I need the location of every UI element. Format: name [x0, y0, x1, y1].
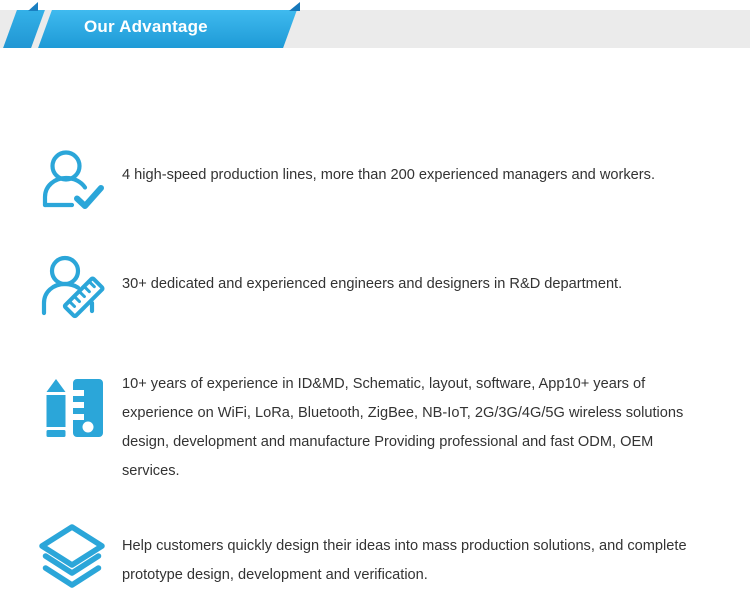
- pencil-ruler-icon: [33, 370, 111, 448]
- list-item-text: Help customers quickly design their idea…: [122, 532, 707, 590]
- list-item-text: 30+ dedicated and experienced engineers …: [122, 270, 702, 299]
- person-check-icon: [33, 144, 111, 222]
- person-ruler-icon: [33, 250, 111, 328]
- page-header: Our Advantage: [0, 0, 750, 62]
- header-right-fold-triangle: [289, 2, 300, 11]
- page-title: Our Advantage: [84, 17, 208, 37]
- layers-icon: [33, 518, 111, 596]
- list-item-text: 4 high-speed production lines, more than…: [122, 161, 702, 190]
- header-left-fold-triangle: [28, 2, 38, 11]
- list-item-text: 10+ years of experience in ID&MD, Schema…: [122, 370, 712, 486]
